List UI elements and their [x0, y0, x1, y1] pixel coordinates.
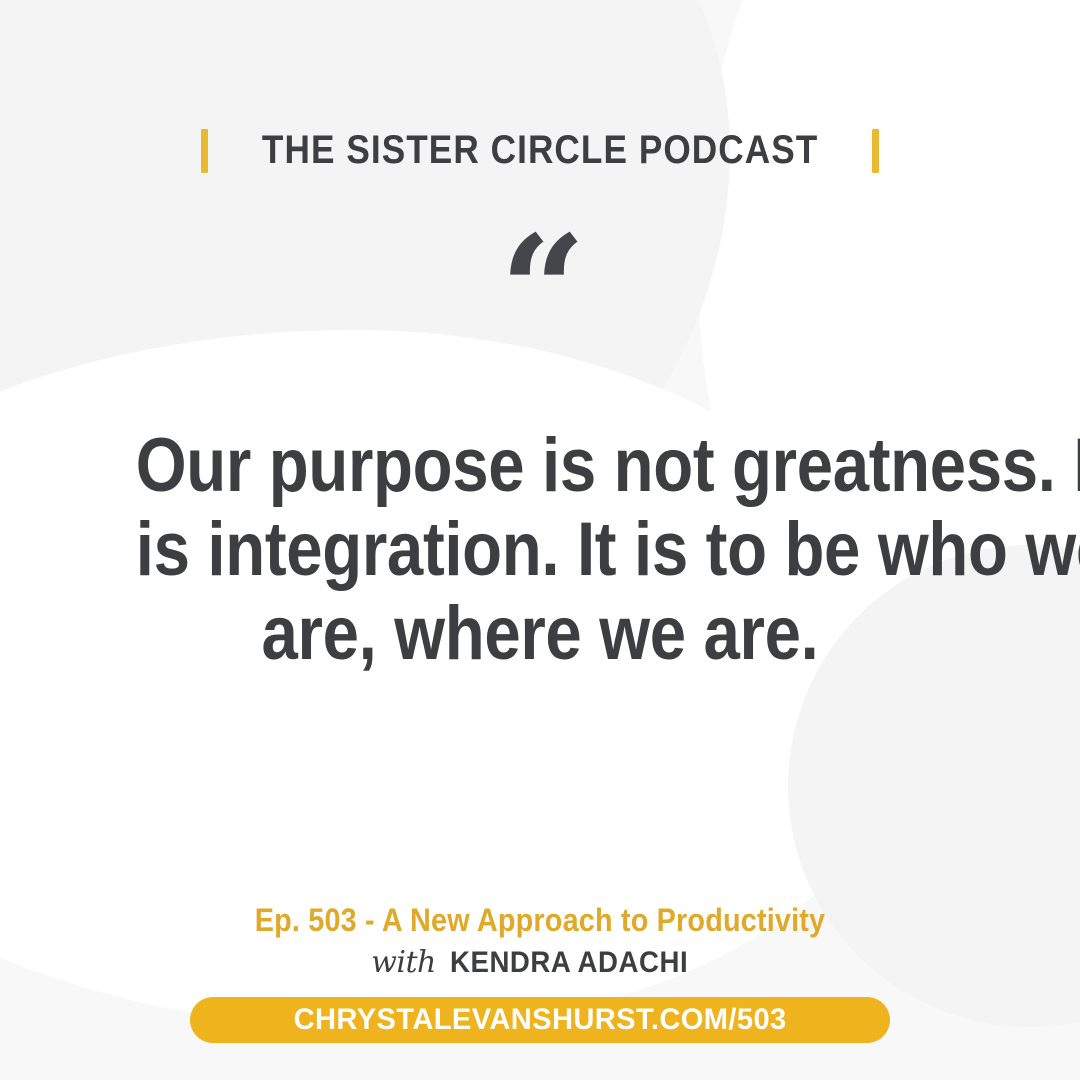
quote-line-3: are, where we are.	[136, 592, 944, 676]
pipe-left-icon	[201, 129, 208, 173]
podcast-header: THE SISTER CIRCLE PODCAST	[0, 128, 1080, 173]
website-url-button[interactable]: CHRYSTALEVANSHURST.COM/503	[190, 997, 890, 1043]
guest-name: KENDRA ADACHI	[450, 946, 688, 980]
quote-line-1: Our purpose is not greatness. It	[136, 424, 944, 508]
quotation-mark-icon: “	[0, 216, 1080, 366]
card-content: THE SISTER CIRCLE PODCAST “ Our purpose …	[0, 0, 1080, 1080]
quote-line-2: is integration. It is to be who we	[136, 508, 944, 592]
website-url-label: CHRYSTALEVANSHURST.COM/503	[293, 1003, 786, 1037]
with-label: with	[371, 945, 436, 980]
quote-block: Our purpose is not greatness. It is inte…	[70, 424, 1010, 676]
guest-attribution: with KENDRA ADACHI	[0, 945, 1080, 980]
podcast-title: THE SISTER CIRCLE PODCAST	[262, 128, 818, 173]
pipe-right-icon	[872, 129, 879, 173]
episode-title: Ep. 503 - A New Approach to Productivity	[54, 902, 1026, 939]
podcast-quote-card: THE SISTER CIRCLE PODCAST “ Our purpose …	[0, 0, 1080, 1080]
